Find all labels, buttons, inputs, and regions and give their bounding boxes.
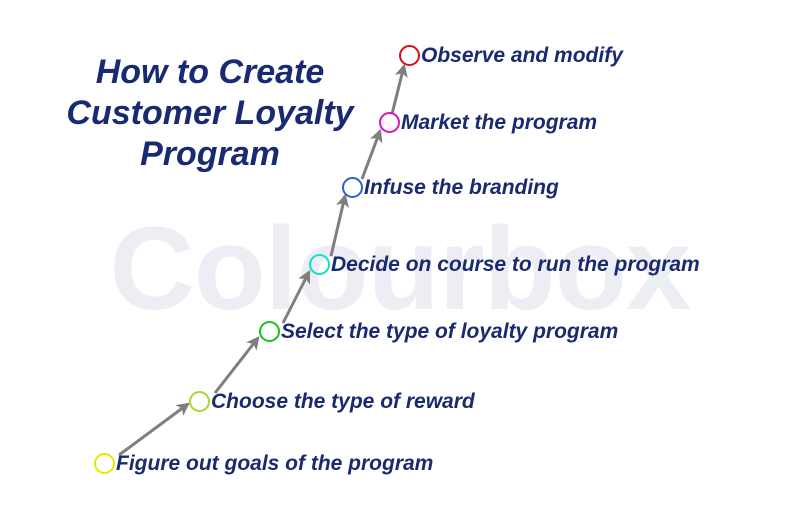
- process-step-1[interactable]: Figure out goals of the program: [94, 453, 433, 474]
- page-title-line-3: Program: [30, 134, 390, 175]
- step-node-red: [399, 45, 420, 66]
- step-node-yellow: [94, 453, 115, 474]
- process-step-3[interactable]: Select the type of loyalty program: [259, 321, 618, 342]
- flow-arrow-3-to-4: [283, 272, 309, 323]
- page-title-line-1: How to Create: [30, 52, 390, 93]
- page-title-line-2: Customer Loyalty: [30, 93, 390, 134]
- page-title: How to Create Customer Loyalty Program: [30, 52, 390, 175]
- flow-arrow-6-to-7: [392, 66, 404, 114]
- process-step-4[interactable]: Decide on course to run the program: [309, 254, 700, 275]
- step-node-blue: [342, 177, 363, 198]
- process-step-6[interactable]: Market the program: [379, 112, 597, 133]
- step-node-turquoise: [309, 254, 330, 275]
- step-node-green: [259, 321, 280, 342]
- flow-arrow-4-to-5: [331, 196, 345, 256]
- process-step-2[interactable]: Choose the type of reward: [189, 391, 475, 412]
- step-label-4: Decide on course to run the program: [331, 254, 700, 275]
- diagram-canvas: Colourbox How to Create Customer Loyalty…: [0, 0, 800, 531]
- step-label-7: Observe and modify: [421, 45, 623, 66]
- step-label-3: Select the type of loyalty program: [281, 321, 618, 342]
- step-label-6: Market the program: [401, 112, 597, 133]
- process-step-7[interactable]: Observe and modify: [399, 45, 623, 66]
- step-label-2: Choose the type of reward: [211, 391, 475, 412]
- process-step-5[interactable]: Infuse the branding: [342, 177, 559, 198]
- step-label-1: Figure out goals of the program: [116, 453, 433, 474]
- flow-arrow-2-to-3: [215, 338, 258, 393]
- flow-arrow-1-to-2: [119, 404, 188, 455]
- step-label-5: Infuse the branding: [364, 177, 559, 198]
- step-node-yellow-green: [189, 391, 210, 412]
